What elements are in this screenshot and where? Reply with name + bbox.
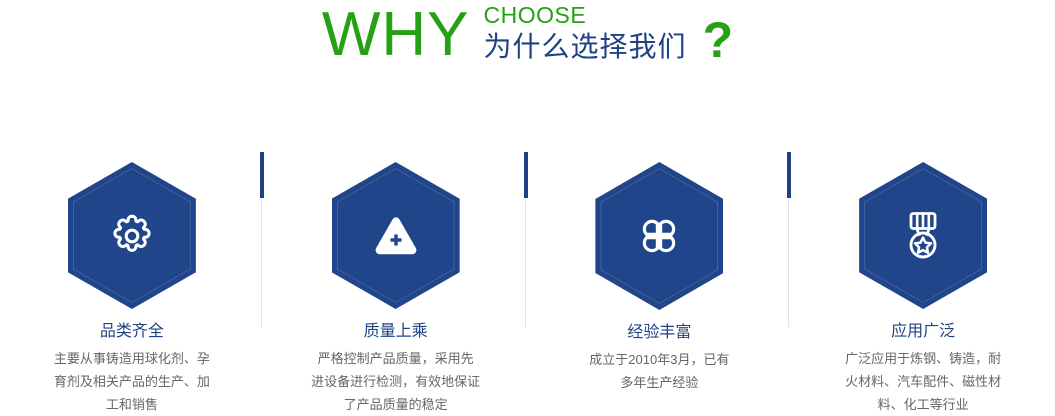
card-title: 应用广泛 [891, 321, 955, 343]
title-subtitle-cn: 为什么选择我们 [484, 29, 687, 65]
desc-line: 严格控制产品质量，采用先 [311, 347, 480, 370]
card-title: 质量上乘 [364, 321, 428, 343]
feature-card-1[interactable]: 品类齐全 主要从事铸造用球化剂、孕 育剂及相关产品的生产、加 工和销售 [0, 150, 264, 416]
feature-cards: 品类齐全 主要从事铸造用球化剂、孕 育剂及相关产品的生产、加 工和销售 [0, 150, 1055, 416]
feature-card-3[interactable]: 经验丰富 成立于2010年3月，已有 多年生产经验 [528, 150, 792, 416]
card-description: 主要从事铸造用球化剂、孕 育剂及相关产品的生产、加 工和销售 [54, 347, 210, 416]
card-description: 广泛应用于炼钢、铸造，耐 火材料、汽车配件、磁性材 料、化工等行业 [845, 347, 1001, 416]
hexagon-badge-1 [68, 162, 196, 309]
desc-line: 主要从事铸造用球化剂、孕 [54, 347, 210, 370]
card-description: 成立于2010年3月，已有 多年生产经验 [589, 348, 729, 394]
title-middle-group: CHOOSE 为什么选择我们 [484, 0, 687, 65]
card-title: 品类齐全 [100, 321, 164, 343]
title-why: WHY [322, 0, 470, 70]
hexagon-badge-2 [332, 162, 460, 309]
divider-line-segment [261, 198, 262, 327]
hexagon-badge-3 [595, 162, 723, 310]
desc-line: 进设备进行检测，有效地保证 [311, 370, 480, 393]
desc-line: 多年生产经验 [589, 371, 729, 394]
desc-line: 广泛应用于炼钢、铸造，耐 [845, 347, 1001, 370]
desc-line: 工和销售 [54, 393, 210, 416]
card-title: 经验丰富 [627, 322, 691, 344]
desc-line: 料、化工等行业 [845, 393, 1001, 416]
gear-icon [104, 208, 160, 264]
desc-line: 火材料、汽车配件、磁性材 [845, 370, 1001, 393]
why-choose-us-section: WHY CHOOSE 为什么选择我们 ? 品类齐全 [0, 0, 1055, 416]
triangle-plus-icon [368, 208, 424, 264]
section-header: WHY CHOOSE 为什么选择我们 ? [0, 0, 1055, 90]
desc-line: 成立于2010年3月，已有 [589, 348, 729, 371]
desc-line: 育剂及相关产品的生产、加 [54, 370, 210, 393]
feature-card-4[interactable]: 应用广泛 广泛应用于炼钢、铸造，耐 火材料、汽车配件、磁性材 料、化工等行业 [791, 150, 1055, 416]
desc-line: 了产品质量的稳定 [311, 393, 480, 416]
medal-icon [895, 208, 951, 264]
title-choose: CHOOSE [484, 2, 687, 28]
clover-icon [631, 208, 687, 264]
divider-line-segment [525, 198, 526, 327]
card-description: 严格控制产品质量，采用先 进设备进行检测，有效地保证 了产品质量的稳定 [311, 347, 480, 416]
divider-line-segment [788, 198, 789, 327]
feature-card-2[interactable]: 质量上乘 严格控制产品质量，采用先 进设备进行检测，有效地保证 了产品质量的稳定 [264, 150, 528, 416]
question-mark-icon: ? [703, 0, 734, 66]
hexagon-badge-4 [859, 162, 987, 309]
